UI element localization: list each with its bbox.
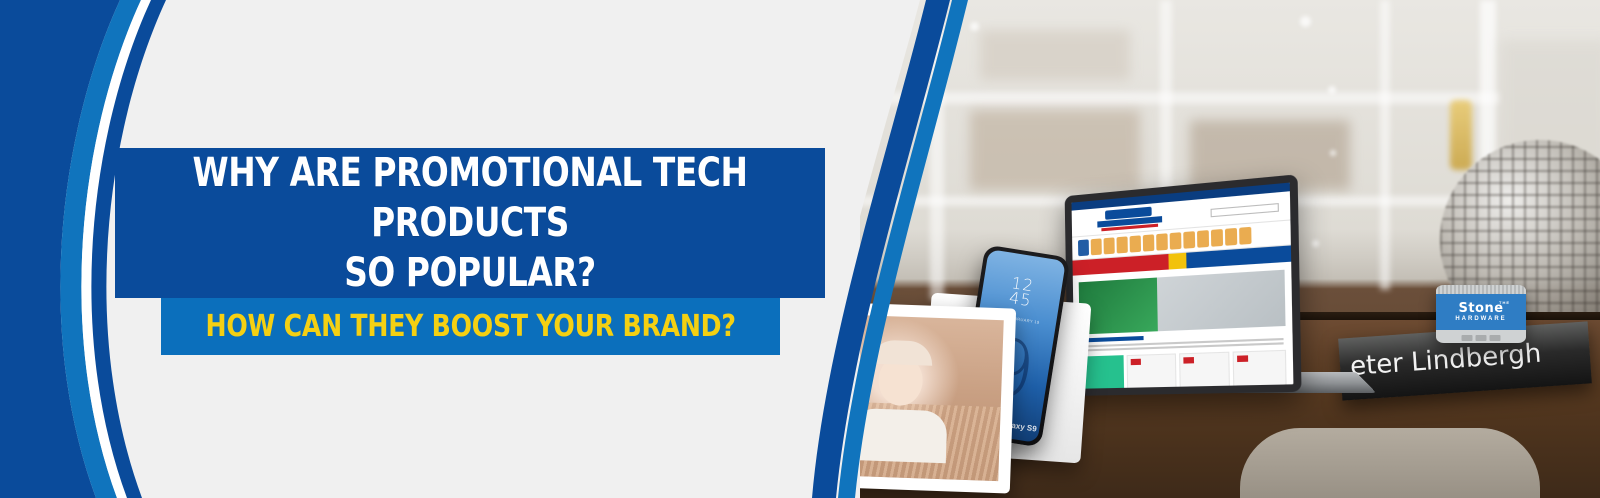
category-icon: [1091, 238, 1102, 255]
hero-product-bags: [1079, 278, 1159, 335]
bokeh-light: [1300, 16, 1311, 27]
laptop-screen: [1065, 174, 1302, 396]
phone-clock: 12 45: [1000, 274, 1043, 310]
category-icon: [1183, 231, 1195, 249]
product-card: [1179, 352, 1231, 396]
bokeh-light: [1330, 150, 1336, 156]
speaker-buttons: [1462, 335, 1501, 341]
subheadline-banner: HOW CAN THEY BOOST YOUR BRAND?: [161, 298, 780, 355]
category-icon: [1197, 230, 1209, 248]
category-icon: [1143, 234, 1155, 251]
chair: [1240, 428, 1540, 498]
category-icon: [1225, 228, 1237, 246]
canada-flag-icon: [1237, 355, 1248, 362]
bluetooth-speaker: THE Stone HARDWARE: [1436, 285, 1526, 343]
product-card: [1127, 353, 1177, 396]
category-icon: [1170, 232, 1182, 249]
subheadline-text: HOW CAN THEY BOOST YOUR BRAND?: [205, 309, 735, 344]
headline-text: WHY ARE PROMOTIONAL TECH PRODUCTS SO POP…: [179, 148, 761, 298]
category-icon: [1104, 237, 1115, 254]
promotional-banner: eter Lindbergh THE Stone HARDWARE: [0, 0, 1600, 498]
speaker-sub-label: HARDWARE: [1436, 316, 1526, 322]
speaker-brand-label: Stone: [1436, 301, 1526, 316]
bokeh-light: [1312, 240, 1319, 247]
canada-flag-icon: [1131, 359, 1141, 365]
site-section-heading: [1082, 336, 1144, 342]
category-icon: [1156, 233, 1168, 250]
site-hero-image: [1079, 270, 1286, 335]
category-icon: [1211, 229, 1223, 247]
speaker-grille: [1436, 285, 1526, 294]
background-blur: [980, 30, 1130, 80]
site-product-grid: [1080, 350, 1287, 396]
book-title: eter Lindbergh: [1349, 339, 1542, 382]
category-icon: [1130, 235, 1141, 252]
category-icon: [1078, 239, 1089, 256]
headline-banner: WHY ARE PROMOTIONAL TECH PRODUCTS SO POP…: [115, 148, 825, 298]
site-search-input: [1211, 203, 1279, 217]
bokeh-light: [1328, 86, 1336, 94]
canada-flag-icon: [1183, 357, 1194, 364]
window-mullion: [1380, 0, 1390, 290]
bottle-silhouette: [1450, 100, 1472, 170]
category-icon: [1239, 227, 1251, 245]
category-icon: [1116, 236, 1127, 253]
product-card: [1233, 350, 1287, 396]
